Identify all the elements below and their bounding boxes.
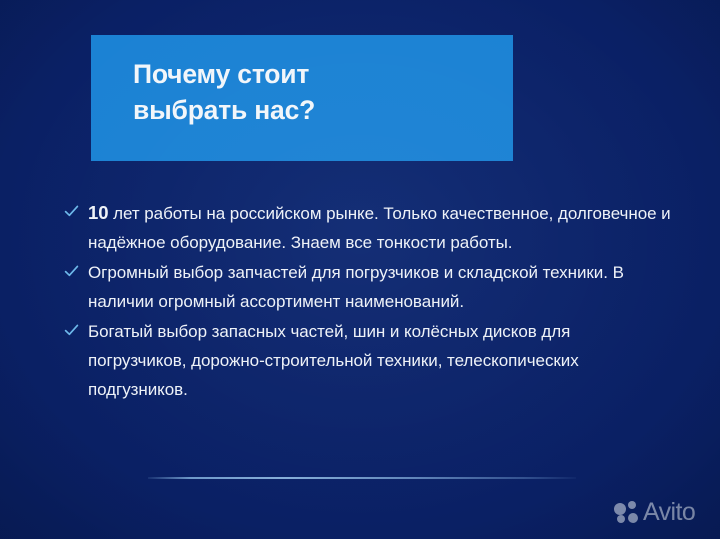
avito-wordmark: Avito xyxy=(643,500,695,525)
list-item-lead: 10 xyxy=(88,202,108,223)
benefits-list: 10 лет работы на российском рынке. Тольк… xyxy=(63,198,673,405)
list-item: Огромный выбор запчастей для погрузчиков… xyxy=(63,258,673,316)
avito-dots-icon xyxy=(614,500,641,524)
check-icon xyxy=(64,323,79,338)
list-item-label: Огромный выбор запчастей для погрузчиков… xyxy=(88,263,624,311)
divider xyxy=(148,477,576,479)
avito-watermark: Avito xyxy=(614,496,695,528)
list-item-label: Богатый выбор запасных частей, шин и кол… xyxy=(88,322,579,399)
slide-canvas: Почему стоит выбрать нас? 10 лет работы … xyxy=(0,0,720,539)
header-banner: Почему стоит выбрать нас? xyxy=(91,35,513,161)
list-item: 10 лет работы на российском рынке. Тольк… xyxy=(63,198,673,257)
list-item: Богатый выбор запасных частей, шин и кол… xyxy=(63,317,673,404)
check-icon xyxy=(64,264,79,279)
check-icon xyxy=(64,204,79,219)
list-item-label: лет работы на российском рынке. Только к… xyxy=(88,204,671,252)
page-title: Почему стоит выбрать нас? xyxy=(133,56,493,128)
